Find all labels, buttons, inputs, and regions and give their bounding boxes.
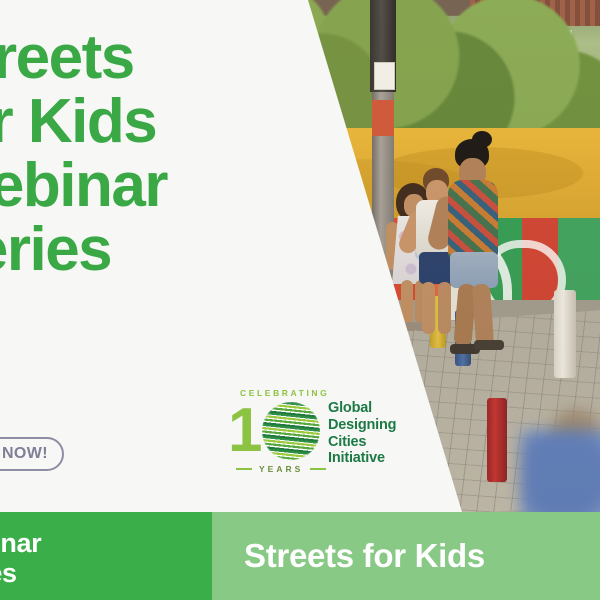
logo-ten-mark: 1: [228, 400, 320, 462]
org-line-4: Initiative: [328, 450, 396, 467]
poster-canvas: Streets for Kids Webinar Series REGISTER…: [0, 0, 600, 600]
register-now-button[interactable]: REGISTER NOW!: [0, 437, 64, 471]
logo-years-label: YEARS: [259, 464, 303, 474]
org-line-1: Global: [328, 400, 396, 417]
bottom-left-line-2: Series: [0, 558, 41, 588]
bottom-left-line-1: Webinar: [0, 528, 41, 558]
org-line-3: Cities: [328, 434, 396, 451]
logo-dash-right: [310, 468, 326, 470]
logo-dash-left: [236, 468, 252, 470]
bottom-bar-right: Streets for Kids: [212, 512, 600, 600]
bottom-bar-right-label: Streets for Kids: [212, 537, 485, 575]
gdci-logo[interactable]: CELEBRATING 1 YEARS Global Designing Cit…: [222, 388, 402, 476]
org-line-2: Designing: [328, 417, 396, 434]
bottom-bar-left: Webinar Series: [0, 512, 212, 600]
headline-line-1: Streets: [0, 26, 354, 90]
organization-name: Global Designing Cities Initiative: [328, 400, 396, 467]
logo-years-row: YEARS: [236, 464, 326, 474]
page-title: Streets for Kids Webinar Series: [0, 26, 354, 281]
bottom-bar-left-text: Webinar Series: [0, 528, 41, 588]
striped-globe-icon: [262, 402, 320, 460]
logo-numeral-one: 1: [228, 400, 260, 462]
headline-line-2: for Kids: [0, 90, 354, 154]
headline-line-3: Webinar: [0, 154, 354, 218]
headline-line-4: Series: [0, 218, 354, 282]
